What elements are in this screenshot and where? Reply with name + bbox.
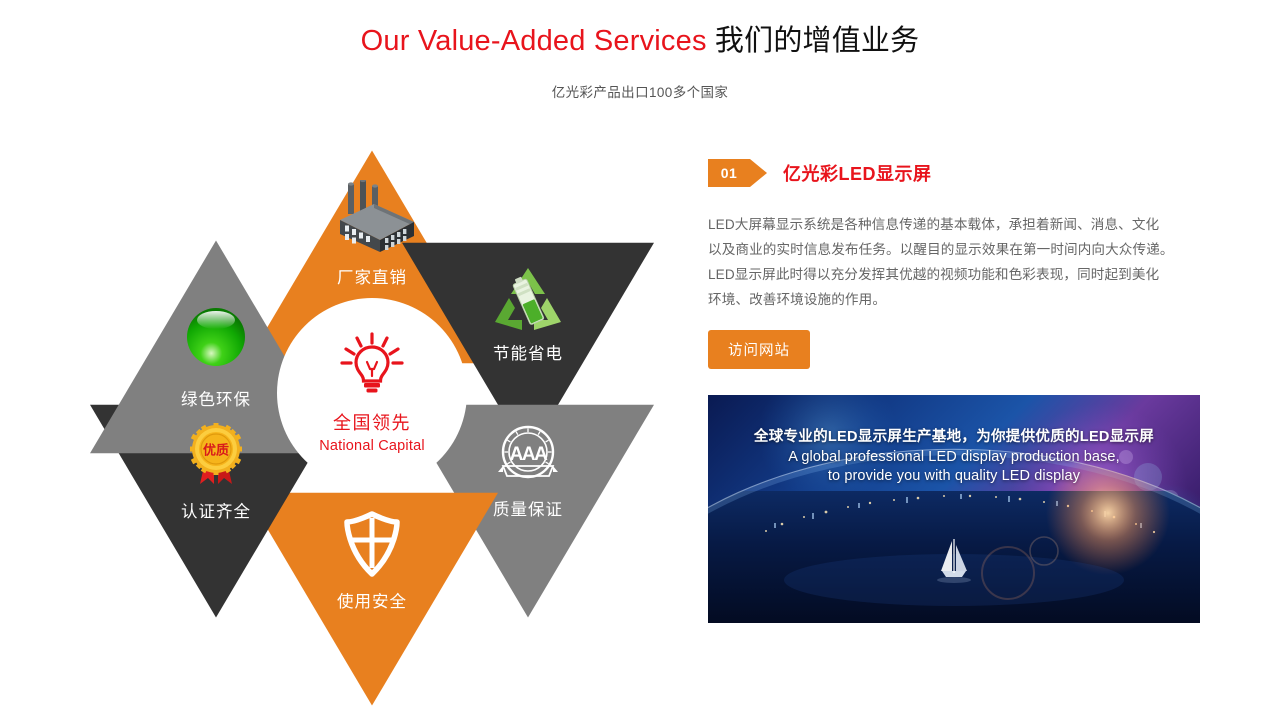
feature-panel: 01 亿光彩LED显示屏 LED大屏幕显示系统是各种信息传递的基本载体，承担着新… [708, 158, 1200, 369]
visit-website-button[interactable]: 访问网站 [708, 330, 810, 369]
paragraph-line: LED大屏幕显示系统是各种信息传递的基本载体，承担着新闻、消息、文化 [708, 212, 1200, 237]
paragraph-line: 环境、改善环境设施的作用。 [708, 287, 1200, 312]
page-title-english: Our Value-Added Services [361, 25, 707, 57]
feature-number-badge: 01 [708, 159, 750, 187]
hexagon-rosette-diagram: 厂家直销 [62, 148, 682, 638]
center-title-english: National Capital [319, 438, 425, 454]
banner-line-english-2: to provide you with quality LED display [708, 468, 1200, 484]
lightbulb-icon [339, 332, 405, 399]
banner-caption: 全球专业的LED显示屏生产基地，为你提供优质的LED显示屏 A global p… [708, 425, 1200, 484]
paragraph-line: LED显示屏此时得以充分发挥其优越的视频功能和色彩表现，同时起到美化 [708, 262, 1200, 287]
page-header: Our Value-Added Services 我们的增值业务 亿光彩产品出口… [0, 0, 1280, 101]
banner-line-english-1: A global professional LED display produc… [708, 449, 1200, 465]
feature-paragraph: LED大屏幕显示系统是各种信息传递的基本载体，承担着新闻、消息、文化 以及商业的… [708, 212, 1200, 312]
feature-title: 亿光彩LED显示屏 [783, 160, 932, 186]
rosette-center: 全国领先 National Capital [277, 298, 467, 488]
main-content: 厂家直销 [0, 140, 1280, 645]
feature-heading-row: 01 亿光彩LED显示屏 [708, 158, 1200, 188]
page-title-chinese: 我们的增值业务 [715, 25, 919, 57]
page-title: Our Value-Added Services 我们的增值业务 [0, 24, 1280, 59]
page-subtitle: 亿光彩产品出口100多个国家 [0, 81, 1280, 101]
center-title-chinese: 全国领先 [333, 409, 411, 435]
banner-line-chinese: 全球专业的LED显示屏生产基地，为你提供优质的LED显示屏 [708, 425, 1200, 446]
promo-banner[interactable]: 全球专业的LED显示屏生产基地，为你提供优质的LED显示屏 A global p… [708, 395, 1200, 623]
paragraph-line: 以及商业的实时信息发布任务。以醒目的显示效果在第一时间内向大众传递。 [708, 237, 1200, 262]
